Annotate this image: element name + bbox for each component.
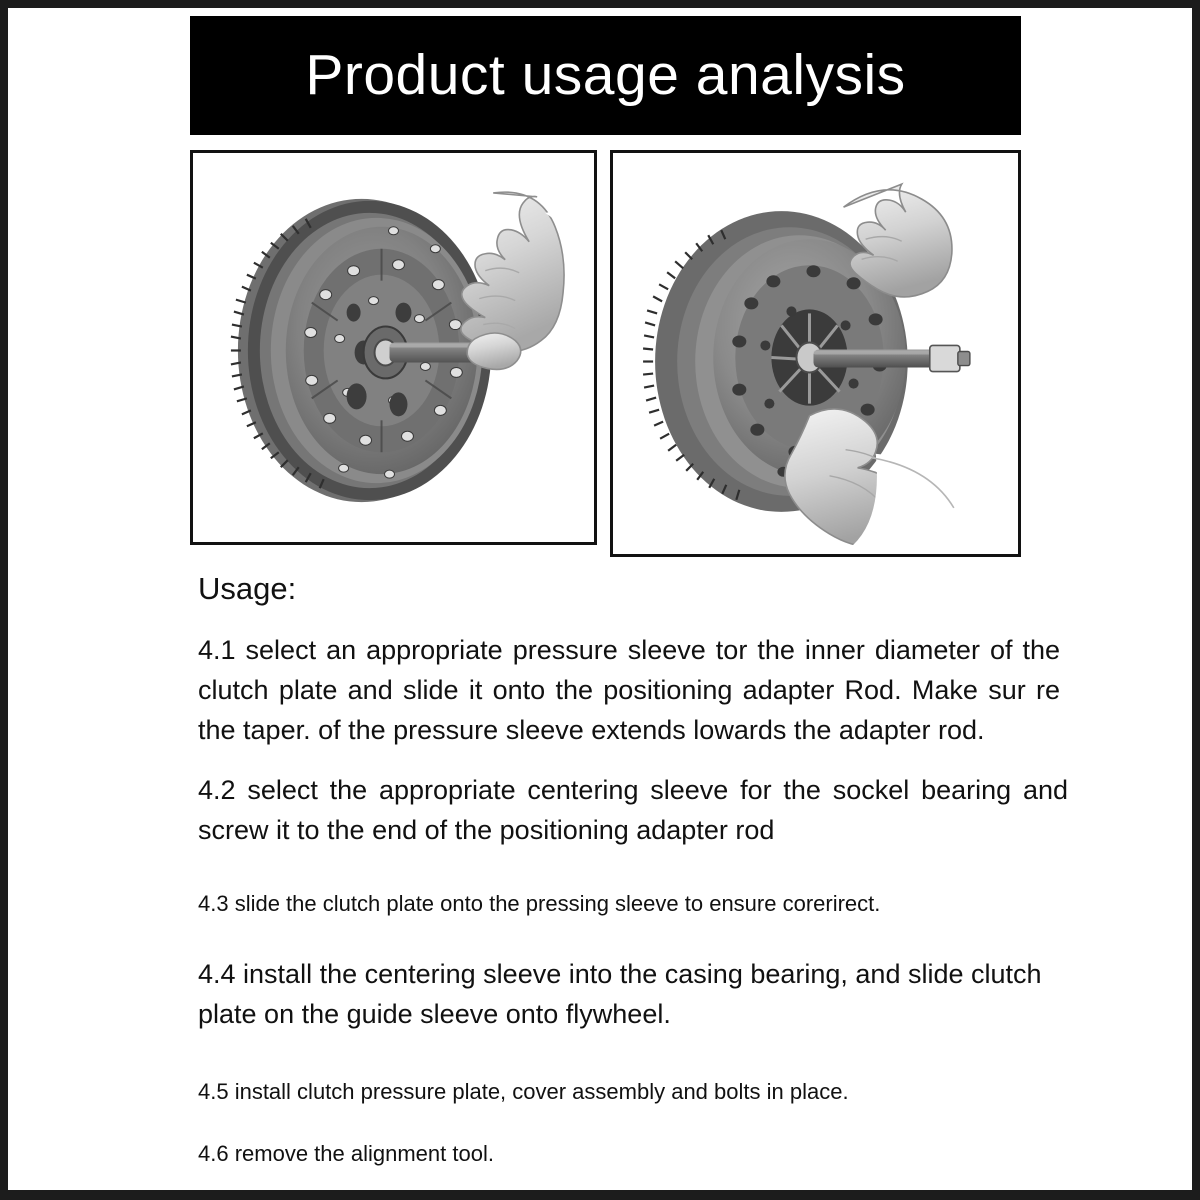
usage-step-4-2: 4.2 select the appropriate centering sle… <box>198 770 1068 850</box>
usage-heading: Usage: <box>198 571 296 607</box>
photo-row <box>190 150 1021 558</box>
page-canvas: Product usage analysis <box>8 8 1192 1190</box>
photo-frame-right <box>610 150 1021 557</box>
photo-clutch-assembly-rod-insert <box>193 153 594 542</box>
usage-step-4-4: 4.4 install the centering sleeve into th… <box>198 954 1060 1034</box>
usage-step-4-1: 4.1 select an appropriate pressure sleev… <box>198 630 1060 750</box>
usage-step-4-3: 4.3 slide the clutch plate onto the pres… <box>198 888 998 920</box>
title-banner: Product usage analysis <box>190 16 1021 135</box>
usage-step-4-6: 4.6 remove the alignment tool. <box>198 1138 798 1170</box>
usage-step-4-5: 4.5 install clutch pressure plate, cover… <box>198 1076 998 1108</box>
photo-frame-left <box>190 150 597 545</box>
photo-clutch-plate-centering <box>613 153 1018 554</box>
page-title: Product usage analysis <box>305 47 905 104</box>
